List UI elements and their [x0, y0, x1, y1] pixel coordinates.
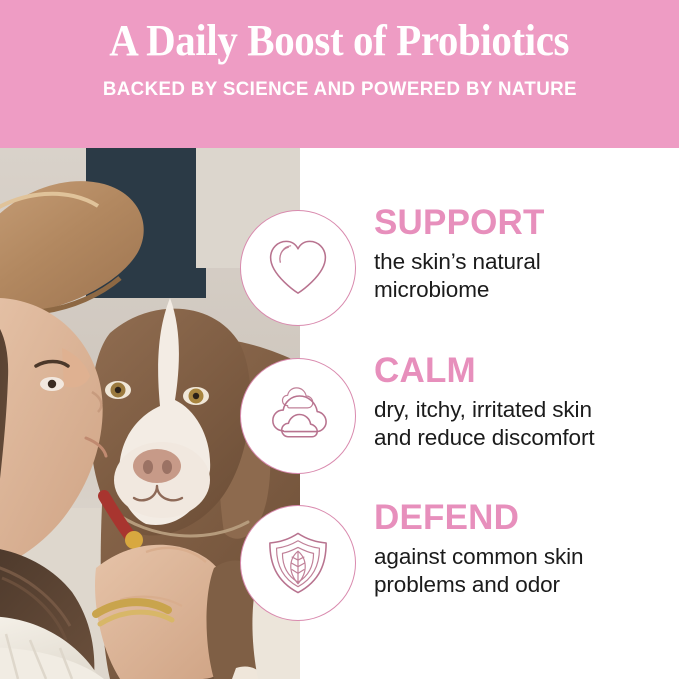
header-band: A Daily Boost of Probiotics BACKED BY SC…: [0, 0, 679, 148]
feature-body-line: against common skin: [374, 543, 674, 571]
feature-body-line: problems and odor: [374, 571, 674, 599]
feature-icon-badge: [240, 210, 356, 326]
clouds-icon: [261, 379, 335, 453]
product-infographic: A Daily Boost of Probiotics BACKED BY SC…: [0, 0, 679, 679]
feature-body-line: microbiome: [374, 276, 674, 304]
feature-defend: DEFEND against common skin problems and …: [0, 500, 679, 650]
feature-body-line: dry, itchy, irritated skin: [374, 396, 674, 424]
feature-body: dry, itchy, irritated skin and reduce di…: [374, 390, 674, 453]
feature-body: the skin’s natural microbiome: [374, 242, 674, 305]
feature-title: SUPPORT: [374, 205, 674, 242]
shield-leaf-icon: [261, 526, 335, 600]
feature-text-block: DEFEND against common skin problems and …: [374, 500, 674, 599]
feature-text-block: SUPPORT the skin’s natural microbiome: [374, 205, 674, 304]
feature-body: against common skin problems and odor: [374, 537, 674, 600]
feature-icon-badge: [240, 358, 356, 474]
feature-title: DEFEND: [374, 500, 674, 537]
feature-icon-badge: [240, 505, 356, 621]
feature-body-line: the skin’s natural: [374, 248, 674, 276]
feature-calm: CALM dry, itchy, irritated skin and redu…: [0, 353, 679, 503]
heart-icon: [261, 231, 335, 305]
page-title: A Daily Boost of Probiotics: [110, 0, 570, 64]
page-subtitle: BACKED BY SCIENCE AND POWERED BY NATURE: [102, 64, 576, 101]
feature-text-block: CALM dry, itchy, irritated skin and redu…: [374, 353, 674, 452]
feature-title: CALM: [374, 353, 674, 390]
feature-support: SUPPORT the skin’s natural microbiome: [0, 205, 679, 355]
feature-body-line: and reduce discomfort: [374, 424, 674, 452]
